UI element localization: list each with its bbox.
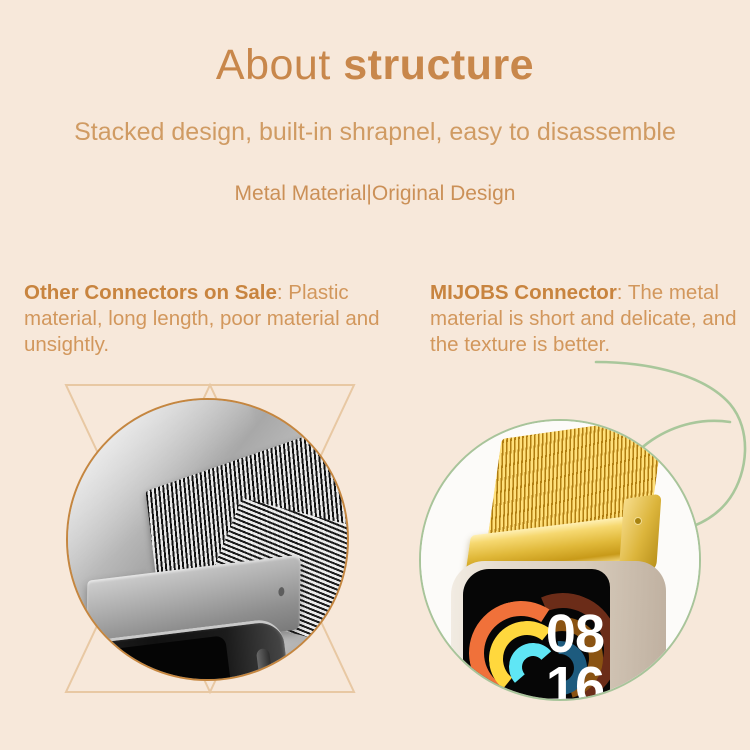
- cream-smartwatch-body: 08 16: [451, 561, 666, 701]
- page-title-bold: structure: [343, 41, 534, 89]
- page-title: About structure: [0, 40, 750, 90]
- clasp-pin-icon: [278, 587, 284, 597]
- watch-side-button-icon: [256, 648, 273, 681]
- gold-clasp-pin-icon: [634, 517, 642, 525]
- left-watch-screen: 08: [66, 635, 239, 681]
- right-watch-screen: 08 16: [463, 569, 610, 701]
- right-column-lead: MIJOBS Connector: [430, 281, 617, 304]
- page-title-light: About: [216, 41, 343, 89]
- product-infographic-page: About structure Stacked design, built-in…: [0, 0, 750, 750]
- right-watch-minute: 16: [546, 655, 604, 701]
- right-column-copy: MIJOBS Connector: The metal material is …: [430, 280, 750, 358]
- subtitle-primary: Stacked design, built-in shrapnel, easy …: [0, 116, 750, 148]
- other-connector-photo: 08: [66, 398, 349, 681]
- left-column-lead: Other Connectors on Sale: [24, 281, 277, 304]
- left-column-copy: Other Connectors on Sale: Plastic materi…: [24, 280, 394, 358]
- subtitle-secondary: Metal Material|Original Design: [0, 180, 750, 208]
- mijobs-connector-photo: 08 16: [419, 419, 701, 701]
